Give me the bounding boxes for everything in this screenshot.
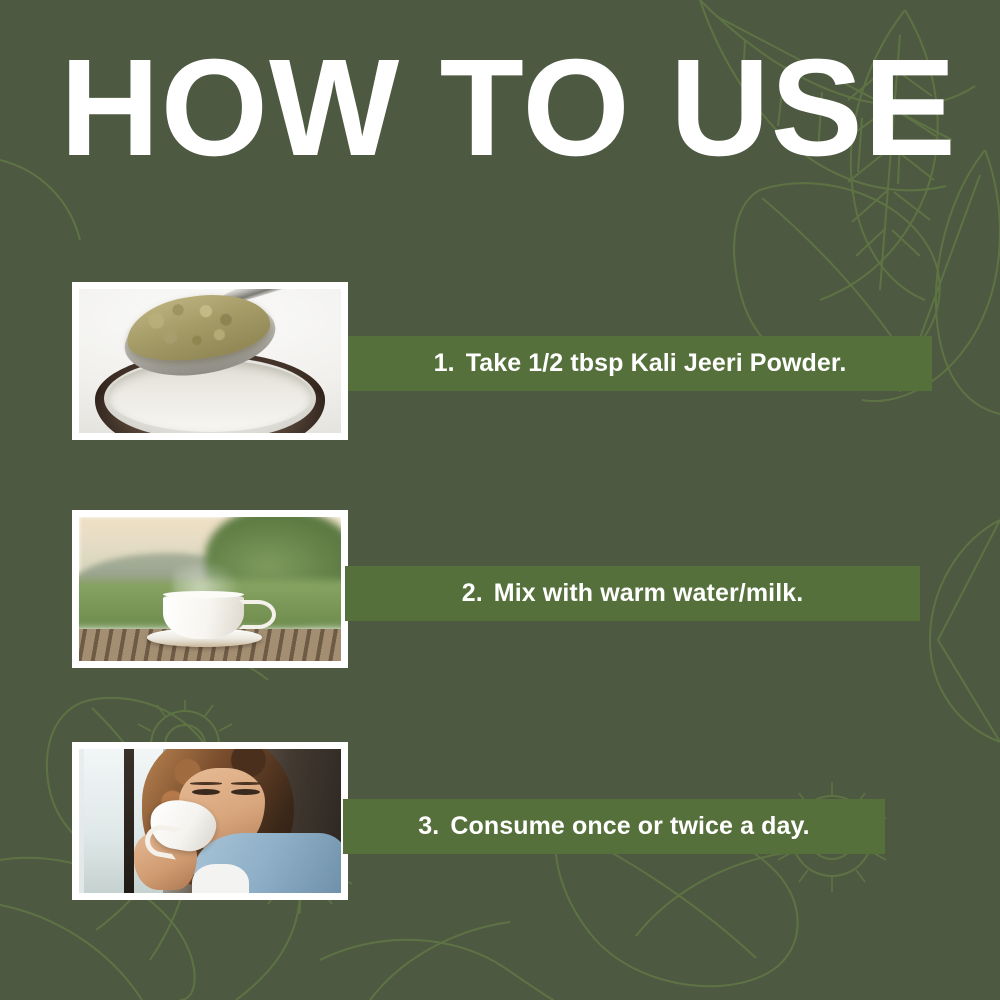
page-title: HOW TO USE	[60, 38, 960, 178]
step-1-label: Take 1/2 tbsp Kali Jeeri Powder.	[466, 349, 847, 377]
step-3-number: 3.	[418, 812, 439, 841]
step-2-label: Mix with warm water/milk.	[494, 579, 804, 607]
step-3-label: Consume once or twice a day.	[450, 812, 809, 840]
step-1-number: 1.	[434, 349, 455, 378]
step-1-image-frame	[72, 282, 348, 440]
powder-spoon-photo	[79, 289, 341, 433]
step-3-bar: 3.Consume once or twice a day.	[343, 799, 885, 854]
step-1-text-line: 1.Take 1/2 tbsp Kali Jeeri Powder.	[434, 349, 847, 378]
warm-cup-photo	[79, 517, 341, 661]
step-3-image-frame	[72, 742, 348, 900]
woman-drinking-photo	[79, 749, 341, 893]
step-3-text-line: 3.Consume once or twice a day.	[418, 812, 809, 841]
step-2-bar: 2.Mix with warm water/milk.	[345, 566, 920, 621]
step-2-number: 2.	[462, 579, 483, 608]
how-to-use-poster: HOW TO USE 1.Take 1/2 tbsp Kali Jeeri Po…	[0, 0, 1000, 1000]
step-2-image-frame	[72, 510, 348, 668]
step-1-bar: 1.Take 1/2 tbsp Kali Jeeri Powder.	[348, 336, 932, 391]
step-2-text-line: 2.Mix with warm water/milk.	[462, 579, 804, 608]
